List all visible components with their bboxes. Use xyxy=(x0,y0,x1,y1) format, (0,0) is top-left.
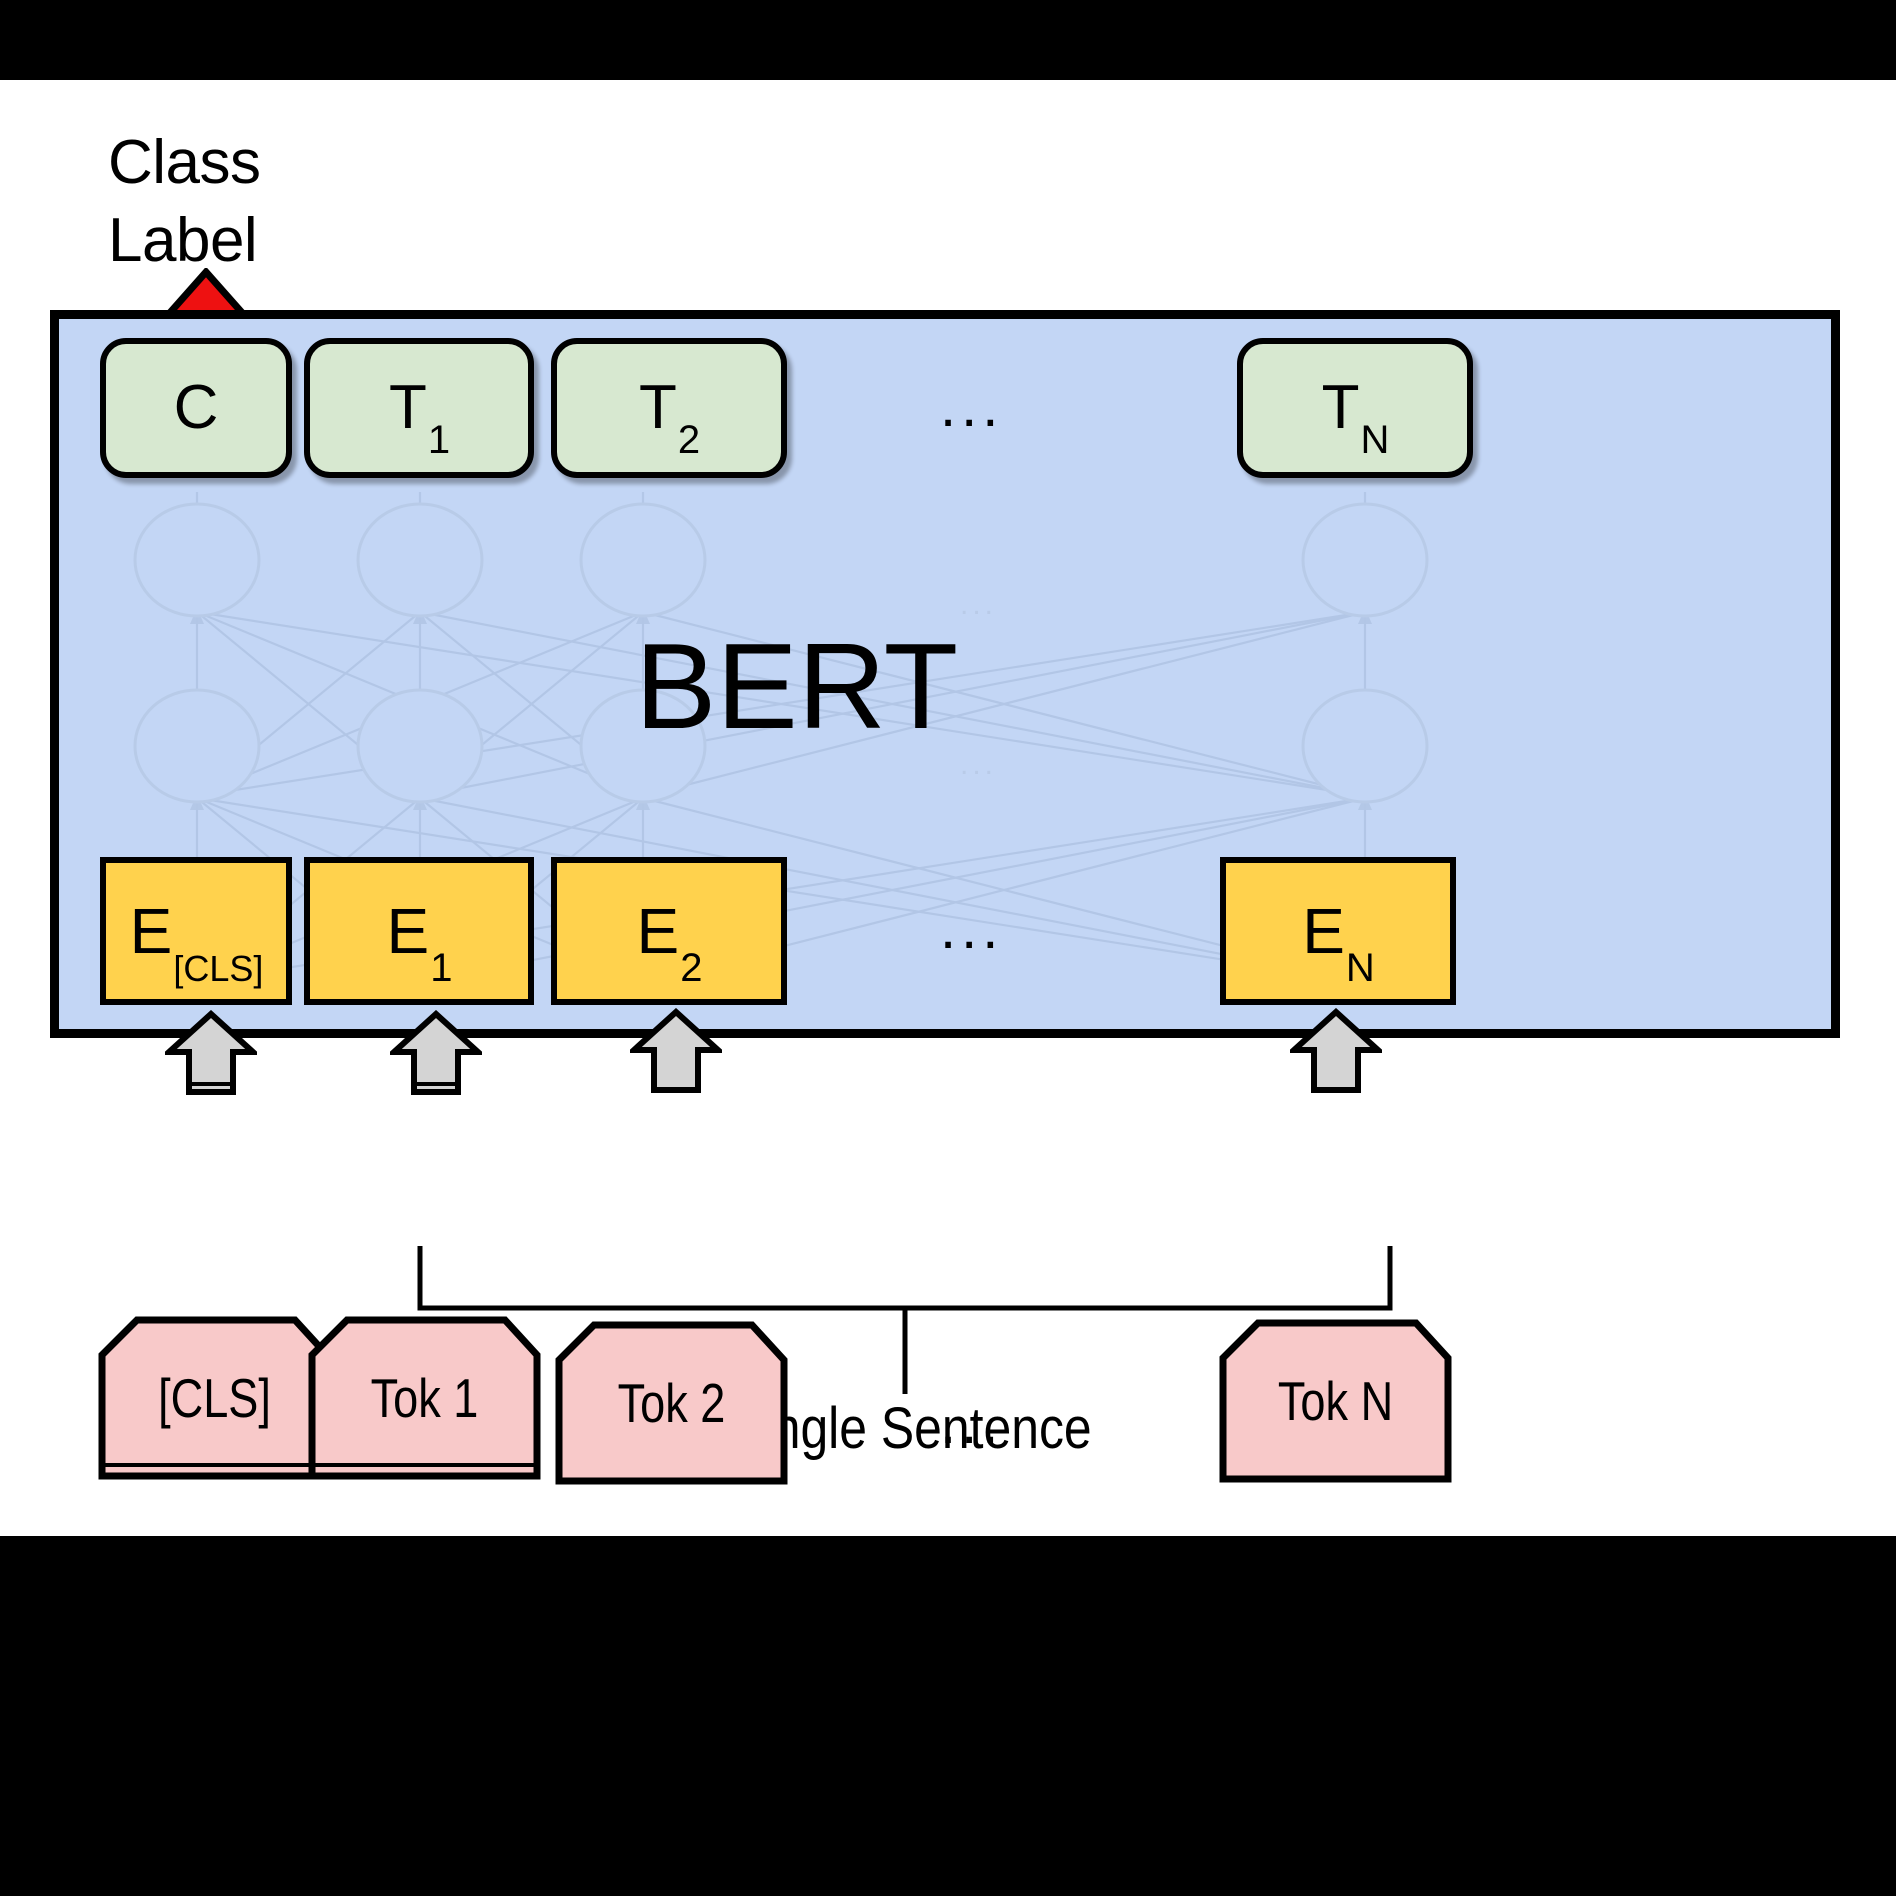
input-arrow-icon-1 xyxy=(390,1010,482,1096)
cls-embedding-label: E[CLS] xyxy=(130,899,263,963)
embedding-n-box[interactable]: EN xyxy=(1220,857,1456,1005)
network-ellipsis-lower: ... xyxy=(960,750,997,780)
class-label-text: Class Label xyxy=(108,124,438,280)
cls-output-box[interactable]: C xyxy=(100,338,292,478)
input-token-1-label: Tok 1 xyxy=(328,1315,521,1481)
input-token-2-box[interactable]: Tok 2 xyxy=(554,1320,789,1486)
token-output-2-box[interactable]: T2 xyxy=(551,338,787,478)
output-row-ellipsis: ... xyxy=(940,378,1003,436)
input-token-n-box[interactable]: Tok N xyxy=(1218,1318,1453,1484)
token-output-n-box[interactable]: TN xyxy=(1237,338,1473,478)
input-token-1-box[interactable]: Tok 1 xyxy=(307,1315,542,1481)
cls-output-label: C xyxy=(174,377,219,439)
network-ellipsis-upper: ... xyxy=(960,590,997,620)
input-arrow-icon-cls xyxy=(165,1010,257,1096)
input-row-ellipsis: ... xyxy=(940,1395,1003,1453)
embedding-1-box[interactable]: E1 xyxy=(304,857,534,1005)
token-output-2-label: T2 xyxy=(639,377,699,439)
model-name-text: BERT xyxy=(635,625,958,747)
token-output-n-label: TN xyxy=(1322,377,1389,439)
input-token-cls-box[interactable]: [CLS] xyxy=(97,1315,332,1481)
input-arrow-icon-2 xyxy=(630,1008,722,1094)
cls-embedding-box[interactable]: E[CLS] xyxy=(100,857,292,1005)
input-token-2-label: Tok 2 xyxy=(575,1320,768,1486)
embedding-n-label: EN xyxy=(1302,899,1374,963)
input-arrow-icon-n xyxy=(1290,1008,1382,1094)
token-output-1-box[interactable]: T1 xyxy=(304,338,534,478)
input-token-n-label: Tok N xyxy=(1239,1318,1432,1484)
token-output-1-label: T1 xyxy=(389,377,449,439)
embedding-2-box[interactable]: E2 xyxy=(551,857,787,1005)
embedding-2-label: E2 xyxy=(637,899,702,963)
embedding-row-ellipsis: ... xyxy=(940,900,1003,958)
input-token-cls-label: [CLS] xyxy=(118,1315,311,1481)
diagram-canvas: Class Label xyxy=(0,0,1896,1896)
embedding-1-label: E1 xyxy=(387,899,452,963)
